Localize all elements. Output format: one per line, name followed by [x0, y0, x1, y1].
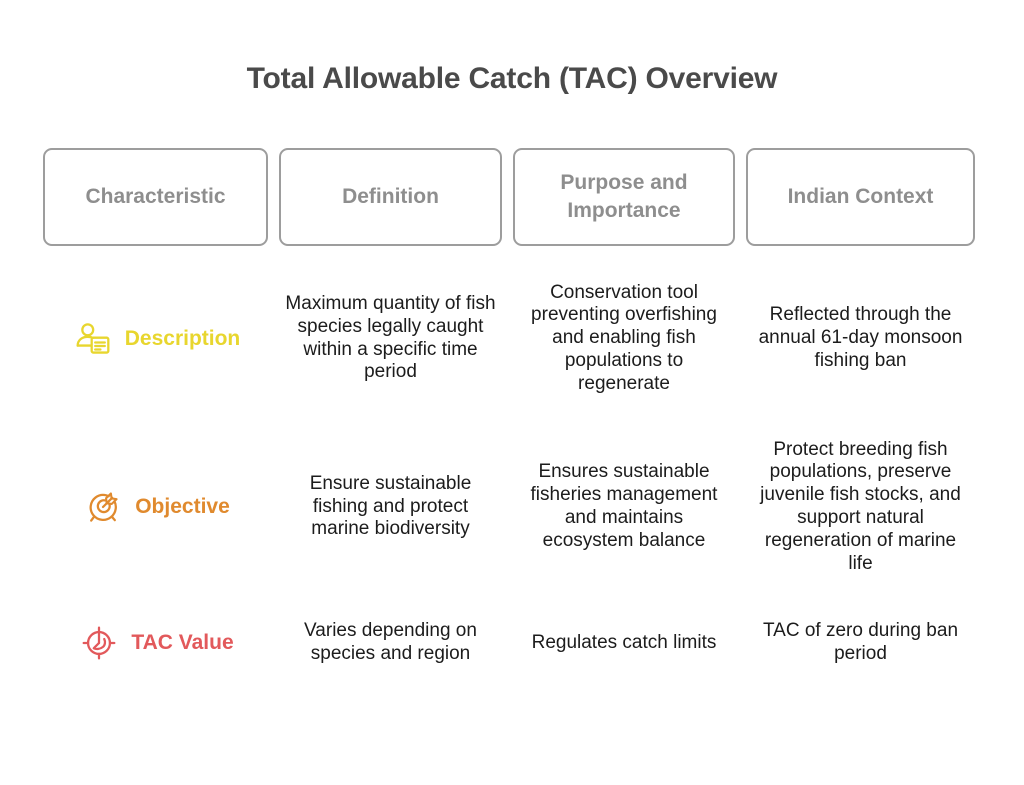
- cell-purpose-description: Conservation tool preventing overfishing…: [513, 282, 735, 396]
- cell-purpose-objective: Ensures sustainable fisheries management…: [513, 461, 735, 552]
- cell-definition-tac-value: Varies depending on species and region: [279, 620, 502, 666]
- row-label-objective: Objective: [135, 495, 230, 519]
- table-header-row: Characteristic Definition Purpose and Im…: [43, 148, 983, 246]
- infographic-page: Total Allowable Catch (TAC) Overview Cha…: [0, 0, 1024, 785]
- comparison-table: Characteristic Definition Purpose and Im…: [43, 148, 983, 703]
- table-row: TAC Value Varies depending on species an…: [43, 583, 983, 703]
- cell-purpose-tac-value: Regulates catch limits: [513, 632, 735, 655]
- row-label-cell-tac-value: TAC Value: [43, 621, 268, 665]
- table-row: Description Maximum quantity of fish spe…: [43, 246, 983, 431]
- row-label-tac-value: TAC Value: [131, 631, 233, 655]
- crosshair-target-icon: [77, 621, 121, 665]
- page-title: Total Allowable Catch (TAC) Overview: [0, 62, 1024, 96]
- person-document-icon: [71, 317, 115, 361]
- column-header-indian-context: Indian Context: [746, 148, 975, 246]
- cell-indian-context-objective: Protect breeding fish populations, prese…: [746, 439, 975, 576]
- row-label-cell-description: Description: [43, 317, 268, 361]
- row-label-cell-objective: Objective: [43, 485, 268, 529]
- column-header-purpose-and-importance: Purpose and Importance: [513, 148, 735, 246]
- cell-definition-description: Maximum quantity of fish species legally…: [279, 293, 502, 384]
- cell-definition-objective: Ensure sustainable fishing and protect m…: [279, 473, 502, 541]
- column-header-characteristic: Characteristic: [43, 148, 268, 246]
- table-row: Objective Ensure sustainable fishing and…: [43, 431, 983, 583]
- column-header-definition: Definition: [279, 148, 502, 246]
- target-arrow-icon: [81, 485, 125, 529]
- cell-indian-context-tac-value: TAC of zero during ban period: [746, 620, 975, 666]
- row-label-description: Description: [125, 327, 241, 351]
- cell-indian-context-description: Reflected through the annual 61-day mons…: [746, 304, 975, 372]
